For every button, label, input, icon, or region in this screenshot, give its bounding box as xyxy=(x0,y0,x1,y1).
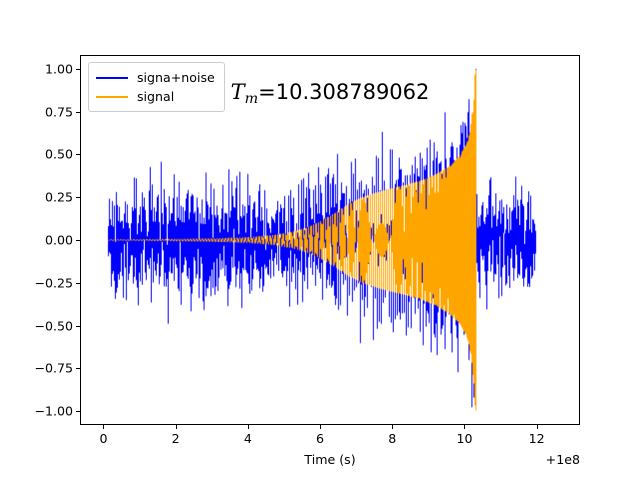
title-subscript: m xyxy=(245,91,259,107)
y-tick-mark xyxy=(76,197,80,198)
y-tick-mark xyxy=(76,69,80,70)
y-tick-label: 1.00 xyxy=(45,61,73,76)
y-tick-mark xyxy=(76,326,80,327)
x-tick-mark xyxy=(176,425,177,429)
legend-color-swatch-icon xyxy=(96,96,128,98)
matplotlib-figure: 024681012 1.000.750.500.250.00−0.25−0.50… xyxy=(0,0,640,480)
plot-legend[interactable]: signa+noise signal xyxy=(88,62,225,112)
y-tick-label: −0.50 xyxy=(34,318,73,333)
x-tick-mark xyxy=(464,425,465,429)
x-tick-label: 0 xyxy=(99,431,107,446)
plot-title: Tm=10.308789062 xyxy=(231,80,430,107)
title-variable: T xyxy=(231,80,245,104)
y-tick-label: 0.25 xyxy=(45,190,73,205)
title-value: =10.308789062 xyxy=(258,80,429,104)
y-tick-mark xyxy=(76,368,80,369)
y-tick-label: 0.75 xyxy=(45,104,73,119)
legend-item-signal[interactable]: signal xyxy=(96,87,215,106)
x-tick-mark xyxy=(392,425,393,429)
y-tick-label: 0.00 xyxy=(45,233,73,248)
x-tick-label: 2 xyxy=(172,431,180,446)
x-tick-label: 4 xyxy=(244,431,252,446)
y-tick-mark xyxy=(76,154,80,155)
legend-color-swatch-icon xyxy=(96,77,128,79)
y-tick-mark xyxy=(76,283,80,284)
x-axis-offset-text: +1e8 xyxy=(546,452,580,467)
legend-label: signa+noise xyxy=(137,70,215,85)
y-tick-label: −0.25 xyxy=(34,275,73,290)
x-tick-label: 8 xyxy=(388,431,396,446)
y-tick-mark xyxy=(76,411,80,412)
y-tick-label: 0.50 xyxy=(45,147,73,162)
y-tick-mark xyxy=(76,112,80,113)
x-tick-label: 10 xyxy=(456,431,472,446)
legend-label: signal xyxy=(137,89,174,104)
x-tick-label: 12 xyxy=(529,431,545,446)
x-tick-label: 6 xyxy=(316,431,324,446)
y-tick-label: −1.00 xyxy=(34,404,73,419)
x-tick-mark xyxy=(537,425,538,429)
x-tick-mark xyxy=(248,425,249,429)
legend-item-signa-noise[interactable]: signa+noise xyxy=(96,68,215,87)
x-tick-mark xyxy=(103,425,104,429)
y-tick-mark xyxy=(76,240,80,241)
x-axis-label: Time (s) xyxy=(304,452,355,467)
x-tick-mark xyxy=(320,425,321,429)
y-tick-label: −0.75 xyxy=(34,361,73,376)
